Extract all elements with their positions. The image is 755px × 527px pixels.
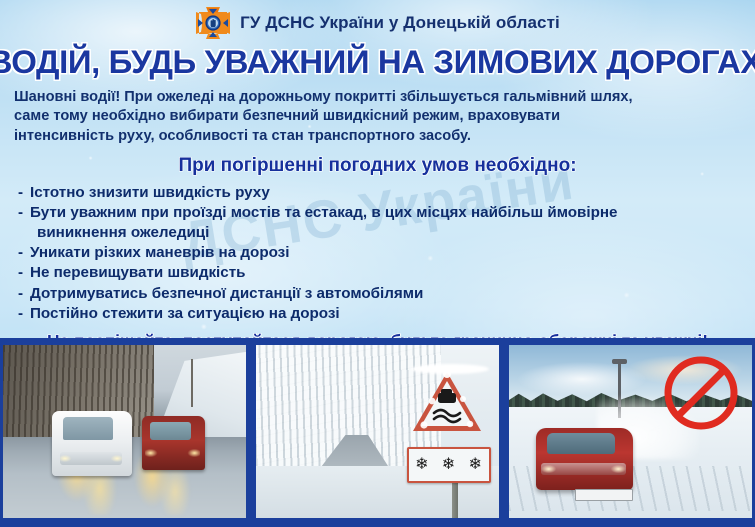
list-item-text: Бути уважним при проїзді мостів та естак… [30,204,618,221]
white-suv [52,411,132,477]
list-item: - Не перевищувати швидкість [18,263,755,283]
poster-header: ГУ ДСНС України у Донецькій області [0,0,755,46]
poster-root: ДСНС України ГУ ДСНС України у Донецькі [0,0,755,527]
list-item: - Постійно стежити за ситуацією на дороз… [18,304,755,324]
snow-cap-on-sign [411,364,489,374]
photo-strip: ❄ ❄ ❄ [0,338,755,527]
photo-skidding-red-car [506,342,755,521]
bullet-marker: - [18,304,23,324]
red-suv [142,416,205,470]
list-item-text: Постійно стежити за ситуацією на дорозі [30,305,340,322]
list-item-text: Дотримуватись безпечної дистанції з авто… [30,285,423,302]
snowflake-icon: ❄ [468,457,481,473]
list-item: - Бути уважним при проїзді мостів та ест… [18,203,755,243]
section-subheading: При погіршенні погодних умов необхідно: [0,155,755,177]
advice-list: - Істотно знизити швидкість руху - Бути … [18,183,755,324]
photo-slippery-road-sign: ❄ ❄ ❄ [253,342,502,521]
red-car [536,428,633,490]
bullet-marker: - [18,203,23,223]
bullet-marker: - [18,284,23,304]
organisation-name: ГУ ДСНС України у Донецькій області [240,13,560,33]
bullet-marker: - [18,183,23,203]
list-item-text: Істотно знизити швидкість руху [30,184,270,201]
bullet-marker: - [18,263,23,283]
bullet-marker: - [18,243,23,263]
list-item: - Уникати різких маневрів на дорозі [18,243,755,263]
snowflake-icon: ❄ [415,457,428,473]
list-item-text: Не перевищувати швидкість [30,264,246,281]
roadside-pole [191,359,193,407]
intro-line-2: саме тому необхідно вибирати безпечний ш… [14,107,741,126]
intro-paragraph: Шановні водії! При ожеледі на дорожньому… [14,88,741,146]
licence-plate [575,489,633,501]
list-item-text-continued: виникнення ожеледиці [30,223,755,243]
list-item: - Дотримуватись безпечної дистанції з ав… [18,284,755,304]
intro-line-1: Шановні водії! При ожеледі на дорожньому… [14,88,741,107]
page-title: ВОДІЙ, БУДЬ УВАЖНИЙ НА ЗИМОВИХ ДОРОГАХ! [0,44,755,81]
intro-line-3: інтенсивність руху, особливості та стан … [14,127,741,146]
photo-cars-on-icy-road [0,342,249,521]
slippery-road-sign-icon [410,369,484,435]
dsns-emblem-icon [195,6,231,40]
snowflake-icon: ❄ [442,457,455,473]
snowflake-supplementary-plate: ❄ ❄ ❄ [407,447,491,483]
list-item: - Істотно знизити швидкість руху [18,183,755,203]
prohibition-sign-icon [662,354,740,432]
list-item-text: Уникати різких маневрів на дорозі [30,244,289,261]
